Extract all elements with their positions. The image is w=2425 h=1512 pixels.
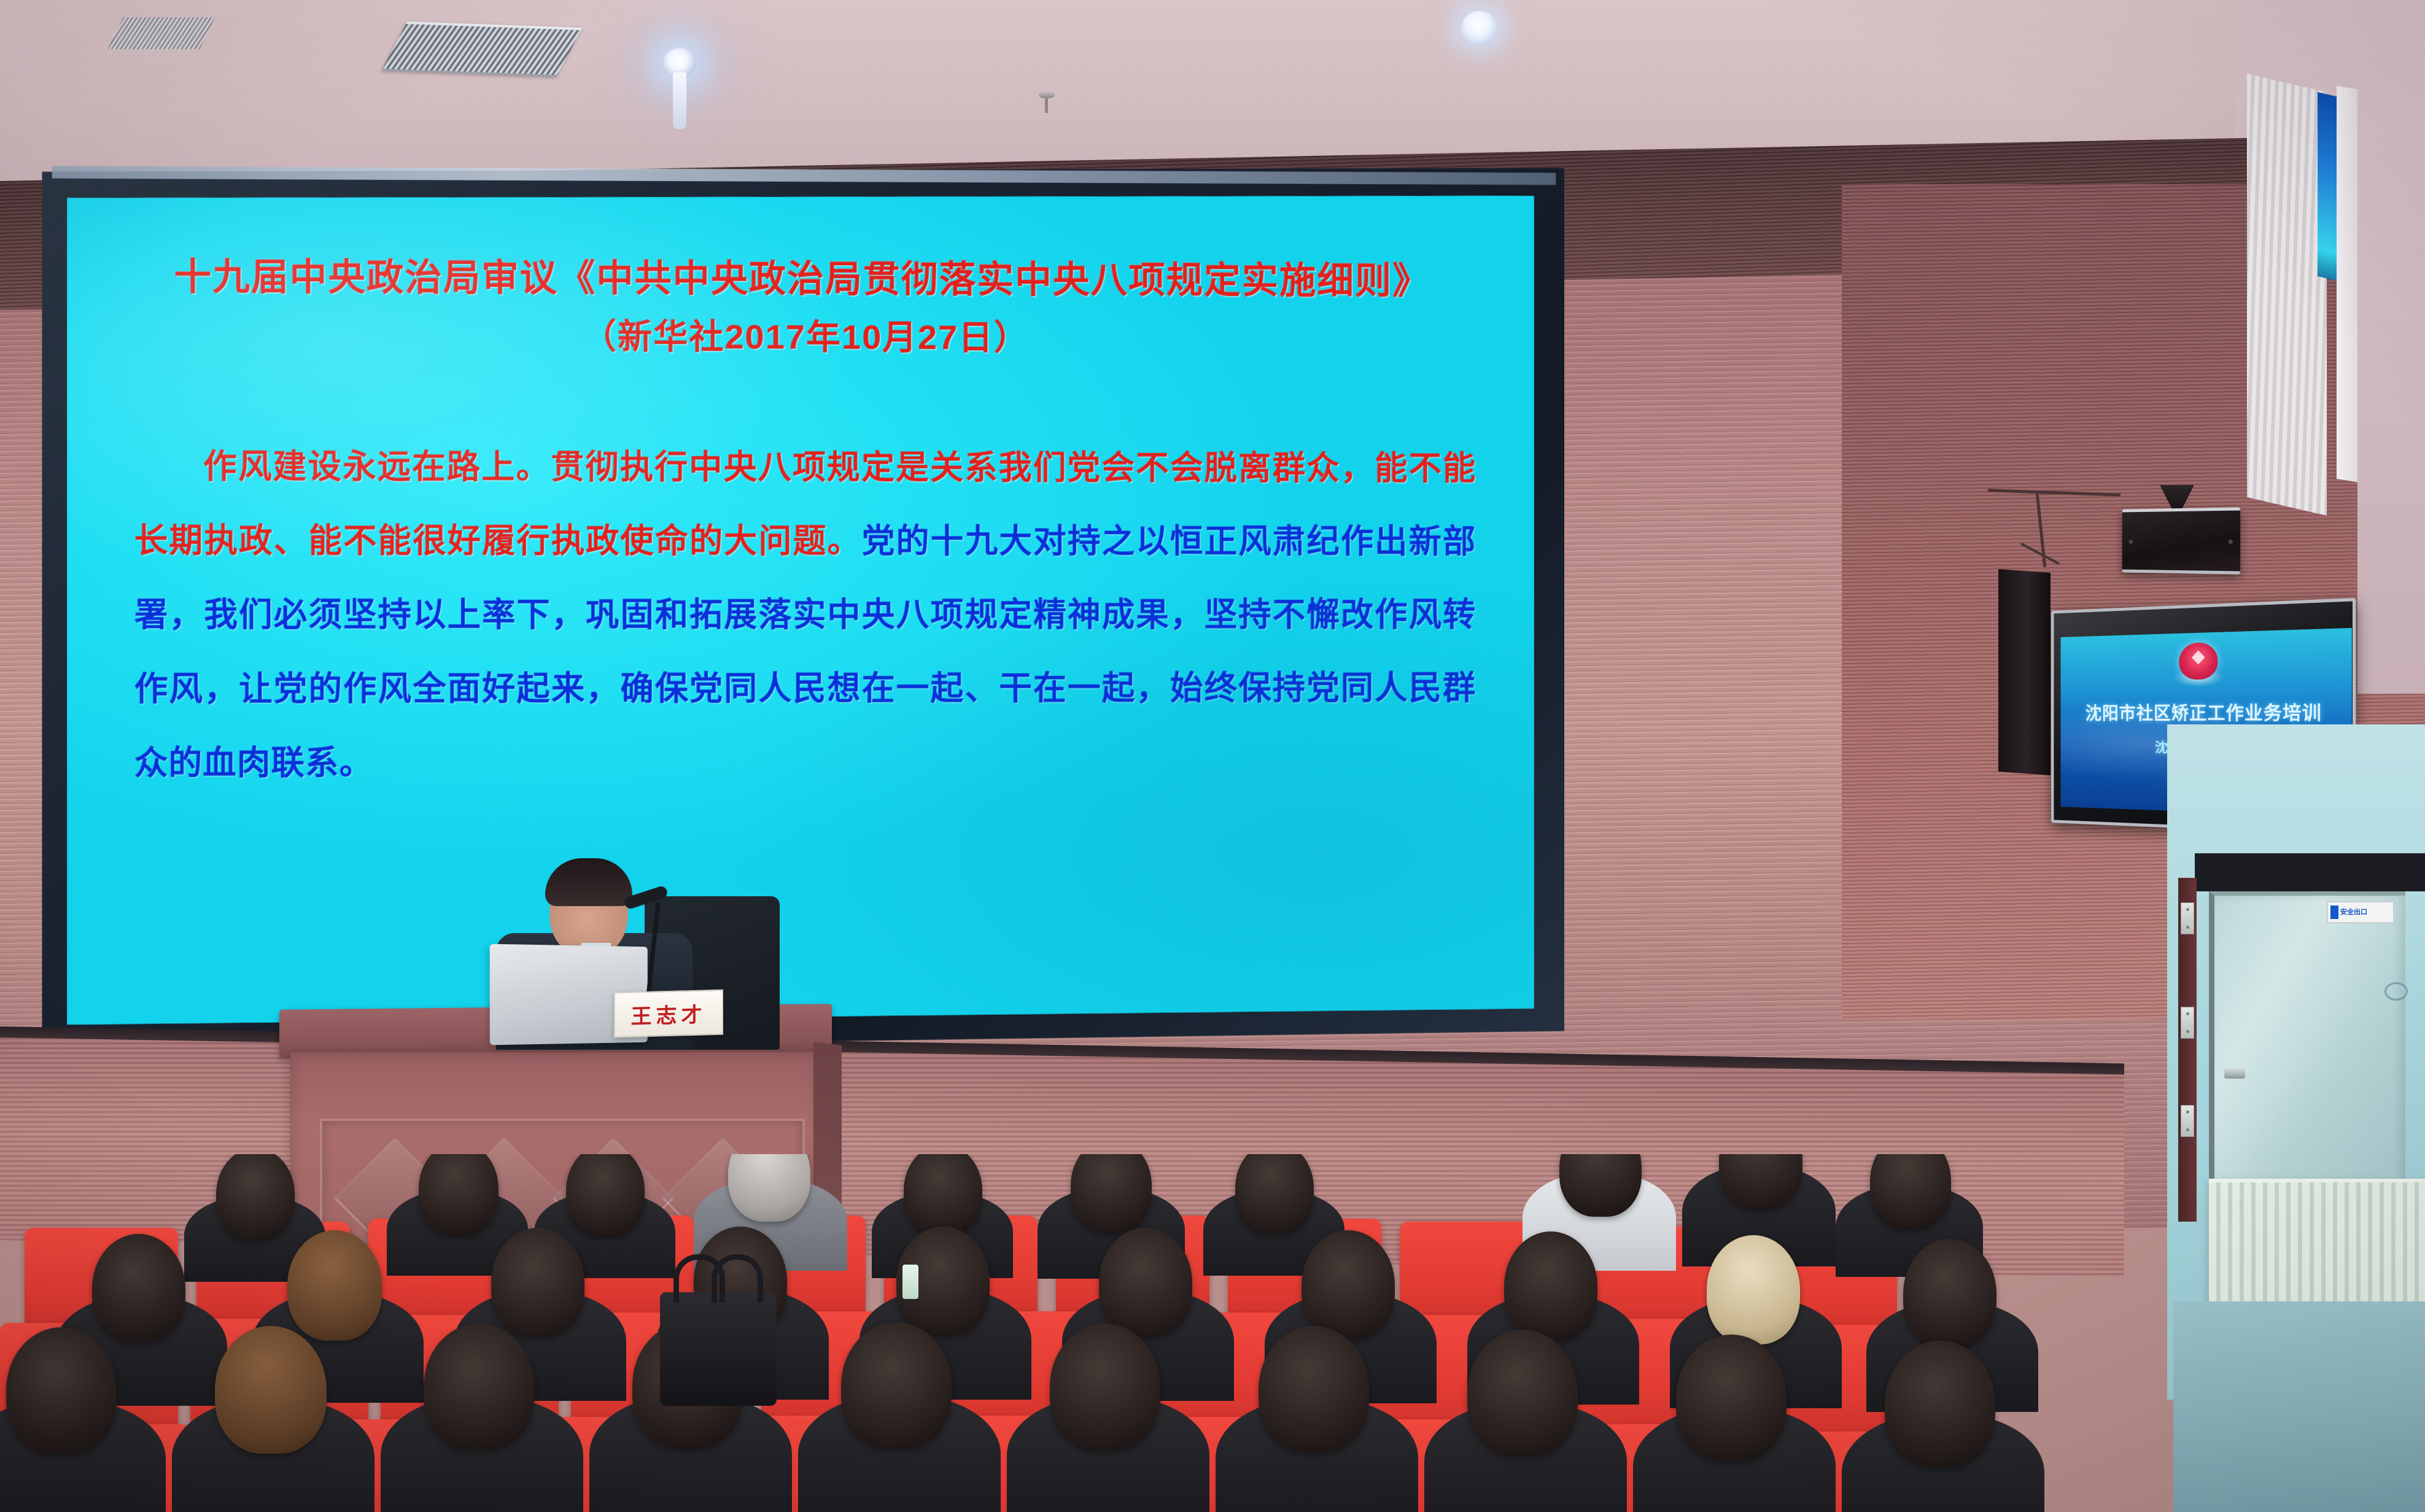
attendee-head bbox=[1707, 1235, 1800, 1344]
door-handle-icon[interactable] bbox=[2224, 1068, 2245, 1079]
door-hinge-top-icon bbox=[2181, 902, 2194, 934]
slide-body-line-3: 党的十九大对持之以恒正风肃纪 bbox=[862, 523, 1341, 560]
right-floor bbox=[2173, 1301, 2425, 1512]
ceiling-spotlight-secondary-icon bbox=[1461, 11, 1498, 44]
radiator bbox=[2209, 1179, 2425, 1320]
exit-door[interactable] bbox=[2209, 891, 2405, 1204]
attendee-head bbox=[1071, 1154, 1152, 1233]
attendee-head bbox=[1099, 1228, 1192, 1337]
tv-slide-title: 沈阳市社区矫正工作业务培训 bbox=[2061, 697, 2352, 726]
attendee-head bbox=[1467, 1330, 1578, 1456]
spotlight-stem bbox=[673, 72, 686, 129]
attendee-head bbox=[419, 1154, 499, 1235]
attendee-head bbox=[1259, 1326, 1369, 1452]
exit-sign: 安全出口 bbox=[2327, 901, 2394, 923]
exit-sign-label: 安全出口 bbox=[2340, 909, 2367, 916]
attendee-head bbox=[1235, 1154, 1314, 1234]
fire-sprinkler-icon bbox=[1038, 91, 1056, 115]
attendee-head bbox=[287, 1230, 382, 1341]
slide-body: 作风建设永远在路上。贯彻执行中央八项规定是关系我们党会不会脱离群众，能不能长期执… bbox=[134, 430, 1476, 801]
attendee-head bbox=[904, 1154, 982, 1236]
slide-subtitle: （新华社2017年10月27日） bbox=[67, 307, 1534, 361]
attendee-head bbox=[728, 1154, 810, 1222]
door-hinge-bottom-icon bbox=[2181, 1105, 2194, 1137]
slide-title: 十九届中央政治局审议《中共中央政治局贯彻落实中央八项规定实施细则》 bbox=[67, 247, 1534, 305]
conference-hall-scene: 十九届中央政治局审议《中共中央政治局贯彻落实中央八项规定实施细则》 （新华社20… bbox=[0, 0, 2425, 1512]
wall-speaker-icon bbox=[2122, 507, 2240, 574]
attendee-head bbox=[841, 1322, 952, 1449]
exit-sign-pictogram-icon bbox=[2330, 905, 2338, 919]
corner-plain-wall bbox=[2357, 80, 2425, 694]
attendee-head bbox=[6, 1327, 117, 1454]
corner-blue-strip bbox=[2318, 92, 2338, 281]
door-hinge-middle-icon bbox=[2181, 1007, 2194, 1039]
attendee-head bbox=[1903, 1239, 1996, 1348]
water-bottle bbox=[902, 1265, 918, 1299]
tv-mount-arm bbox=[1998, 569, 2051, 775]
right-side-wall-header-band bbox=[2195, 853, 2425, 891]
national-emblem-icon bbox=[2179, 642, 2217, 680]
attendee-head bbox=[1870, 1154, 1951, 1229]
wall-marking bbox=[2384, 982, 2408, 1001]
attendee-head bbox=[424, 1324, 534, 1450]
emblem-glow bbox=[2172, 668, 2225, 687]
attendee-head bbox=[215, 1326, 327, 1454]
attendee-head bbox=[1885, 1341, 1995, 1467]
air-conditioning-vent-secondary-icon bbox=[107, 17, 215, 49]
corner-curtain bbox=[2247, 74, 2327, 516]
slide-body-line-1: 作风建设永远在路上。贯彻执行中央八项规定是关系我们党会不会脱离群众，能 bbox=[203, 448, 1408, 487]
attendee-head bbox=[491, 1228, 584, 1337]
presenter-nameplate-text: 王志才 bbox=[631, 998, 707, 1029]
presenter-nameplate: 王志才 bbox=[614, 990, 723, 1038]
handbag bbox=[660, 1292, 777, 1406]
attendee-head bbox=[216, 1154, 295, 1240]
attendee-head bbox=[1302, 1230, 1395, 1339]
projection-screen: 十九届中央政治局审议《中共中央政治局贯彻落实中央八项规定实施细则》 （新华社20… bbox=[42, 161, 1565, 1052]
attendee-head bbox=[1504, 1231, 1597, 1341]
attendee-head bbox=[1676, 1335, 1787, 1461]
audience-seating-area bbox=[0, 1154, 2186, 1512]
projection-screen-surface: 十九届中央政治局审议《中共中央政治局贯彻落实中央八项规定实施细则》 （新华社20… bbox=[67, 190, 1534, 1025]
air-conditioning-vent-icon bbox=[382, 21, 583, 77]
attendee-head bbox=[1050, 1324, 1160, 1450]
attendee-head bbox=[92, 1234, 185, 1342]
attendee-head bbox=[566, 1154, 645, 1236]
